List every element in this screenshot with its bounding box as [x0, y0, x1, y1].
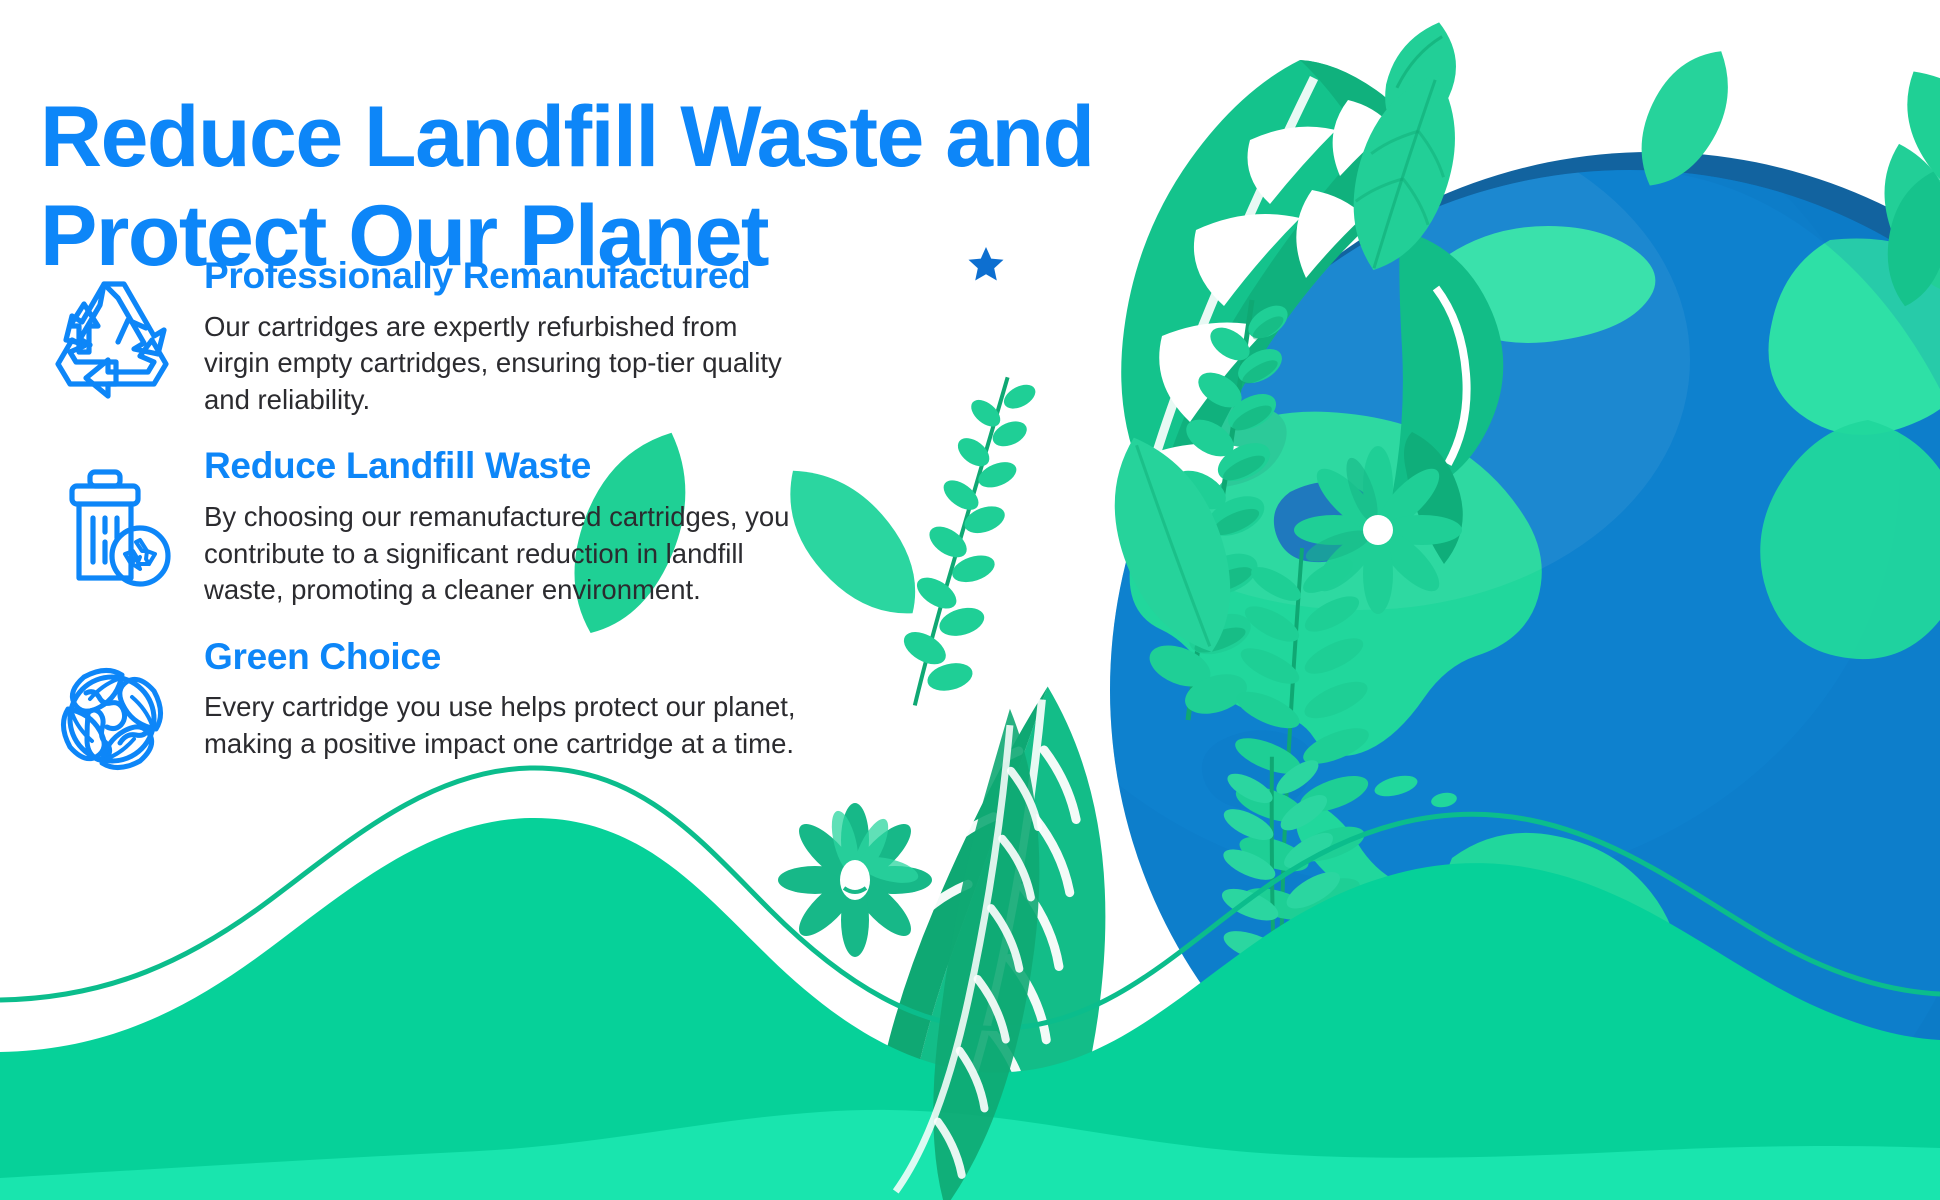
globe-leaves-icon [48, 655, 176, 783]
feature-item: Professionally Remanufactured Our cartri… [48, 250, 868, 418]
feature-item: Green Choice Every cartridge you use hel… [48, 631, 868, 783]
feature-text: Every cartridge you use helps protect ou… [204, 689, 804, 762]
trash-bin-recycle-icon [48, 464, 176, 592]
feature-body: Green Choice Every cartridge you use hel… [204, 631, 868, 763]
feature-title: Green Choice [204, 637, 868, 678]
feature-item: Reduce Landfill Waste By choosing our re… [48, 440, 868, 608]
feature-title: Professionally Remanufactured [204, 256, 868, 297]
feature-body: Reduce Landfill Waste By choosing our re… [204, 440, 868, 608]
recycle-arrows-icon [48, 274, 176, 402]
feature-list: Professionally Remanufactured Our cartri… [48, 250, 868, 805]
feature-title: Reduce Landfill Waste [204, 446, 868, 487]
feature-text: By choosing our remanufactured cartridge… [204, 499, 804, 609]
content-layer: Reduce Landfill Waste and Protect Our Pl… [0, 0, 1940, 1200]
headline-line-1: Reduce Landfill Waste and [40, 89, 1094, 185]
banner-canvas: Reduce Landfill Waste and Protect Our Pl… [0, 0, 1940, 1200]
feature-text: Our cartridges are expertly refurbished … [204, 309, 804, 419]
feature-body: Professionally Remanufactured Our cartri… [204, 250, 868, 418]
